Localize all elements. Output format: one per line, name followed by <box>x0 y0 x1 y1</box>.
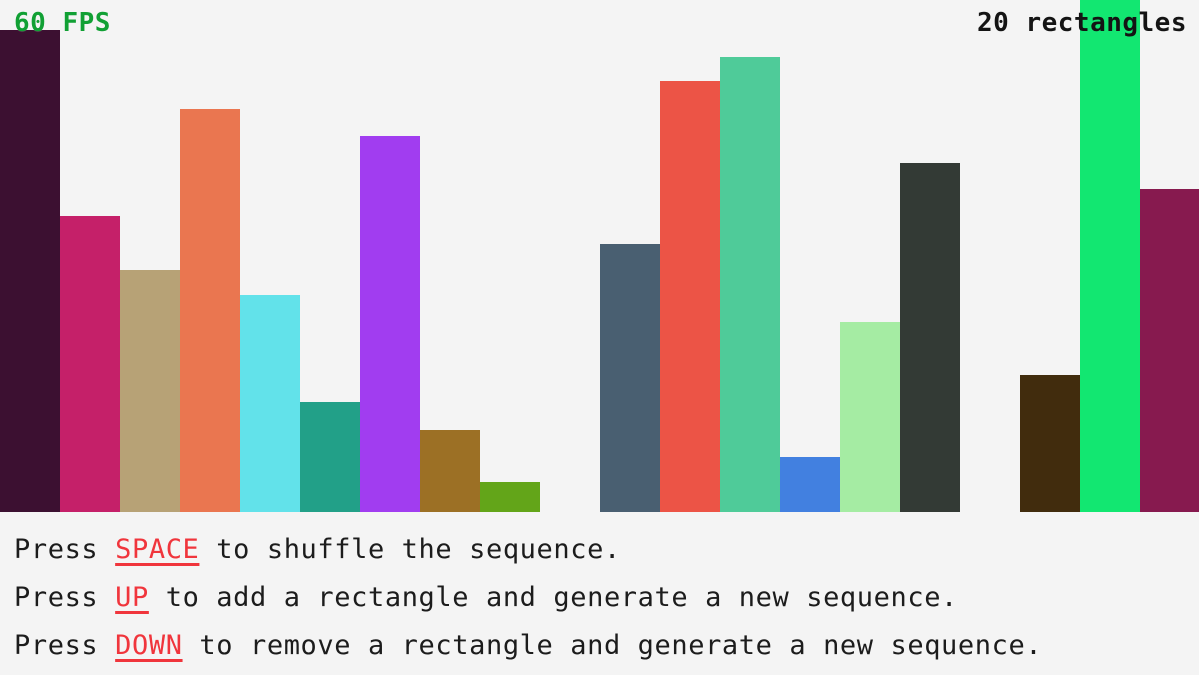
bar-rectangle <box>120 270 180 512</box>
instruction-suffix: to remove a rectangle and generate a new… <box>183 630 1043 661</box>
bar-rectangle <box>0 30 60 512</box>
bar-rectangle <box>180 109 240 512</box>
bar-rectangle <box>900 163 960 512</box>
bar-rectangle <box>1020 375 1080 512</box>
key-up[interactable]: UP <box>115 582 149 613</box>
instruction-line-space: Press SPACE to shuffle the sequence. <box>14 526 1199 574</box>
instruction-suffix: to shuffle the sequence. <box>199 534 620 565</box>
instruction-suffix: to add a rectangle and generate a new se… <box>149 582 958 613</box>
bar-rectangle <box>840 322 900 512</box>
fps-counter: 60 FPS <box>14 8 111 38</box>
bar-rectangle <box>60 216 120 512</box>
bar-rectangle <box>780 457 840 512</box>
instruction-prefix: Press <box>14 534 115 565</box>
key-space[interactable]: SPACE <box>115 534 199 565</box>
instruction-prefix: Press <box>14 582 115 613</box>
bar-series <box>0 0 1199 512</box>
bar-rectangle <box>420 430 480 512</box>
bar-rectangle <box>240 295 300 512</box>
instruction-line-up: Press UP to add a rectangle and generate… <box>14 574 1199 622</box>
bar-rectangle <box>540 349 600 512</box>
bar-rectangle <box>600 244 660 512</box>
bar-rectangle <box>300 402 360 512</box>
bar-rectangle <box>360 136 420 512</box>
rectangle-canvas[interactable] <box>0 0 1199 512</box>
bar-rectangle <box>480 482 540 512</box>
bar-rectangle <box>660 81 720 512</box>
instruction-line-down: Press DOWN to remove a rectangle and gen… <box>14 622 1199 670</box>
bar-rectangle <box>720 57 780 512</box>
bar-rectangle <box>1080 0 1140 512</box>
bar-rectangle <box>1140 189 1199 512</box>
rectangle-count-label: 20 rectangles <box>977 8 1187 38</box>
key-down[interactable]: DOWN <box>115 630 182 661</box>
instruction-prefix: Press <box>14 630 115 661</box>
app-root: 60 FPS 20 rectangles Press SPACE to shuf… <box>0 0 1199 675</box>
instructions-panel: Press SPACE to shuffle the sequence. Pre… <box>0 512 1199 675</box>
